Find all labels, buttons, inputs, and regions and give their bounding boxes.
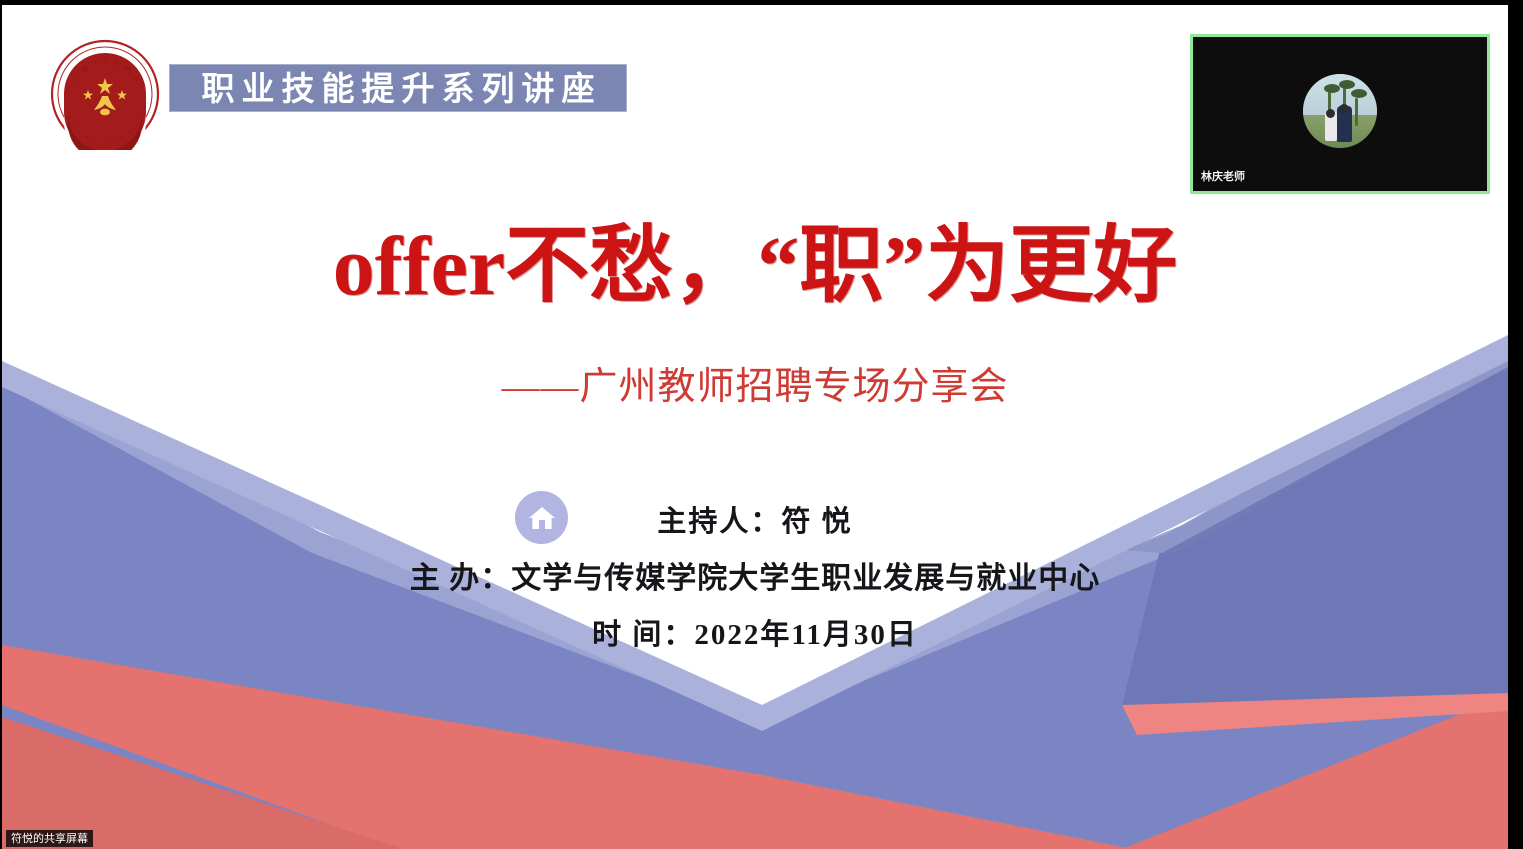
slide-detail-block: 主持人：符 悦 主 办：文学与传媒学院大学生职业发展与就业中心 时 间：2022… bbox=[2, 495, 1508, 653]
slide-subtitle: ——广州教师招聘专场分享会 bbox=[2, 355, 1508, 410]
detail-row-time: 时 间：2022年11月30日 bbox=[2, 611, 1508, 653]
svg-text:D: D bbox=[104, 139, 107, 143]
home-icon bbox=[515, 491, 568, 544]
deco-red-left bbox=[2, 645, 762, 849]
detail-row-host: 主持人：符 悦 bbox=[2, 495, 1508, 543]
lecture-series-banner: 职业技能提升系列讲座 bbox=[169, 64, 627, 112]
lecture-series-banner-text: 职业技能提升系列讲座 bbox=[195, 72, 602, 105]
slide-main-title: offer不愁，“职”为更好 bbox=[2, 223, 1508, 311]
participant-video-tile[interactable]: 林庆老师 bbox=[1190, 34, 1490, 194]
participant-name-label: 林庆老师 bbox=[1201, 168, 1245, 184]
deco-red-right-face bbox=[1122, 693, 1508, 735]
deco-red-center bbox=[397, 775, 1132, 849]
deco-red-right bbox=[1122, 695, 1508, 849]
school-crest-logo: 广 播 大 文 传 职 业 G U A N G D A W E bbox=[50, 38, 160, 150]
detail-row-organizer: 主 办：文学与传媒学院大学生职业发展与就业中心 bbox=[2, 553, 1508, 597]
svg-text:文: 文 bbox=[103, 57, 109, 65]
avatar bbox=[1303, 74, 1377, 148]
screen-share-frame: 广 播 大 文 传 职 业 G U A N G D A W E bbox=[2, 5, 1508, 849]
screen-share-label: 符悦的共享屏幕 bbox=[6, 830, 93, 847]
detail-host-text: 主持人：符 悦 bbox=[657, 498, 852, 540]
